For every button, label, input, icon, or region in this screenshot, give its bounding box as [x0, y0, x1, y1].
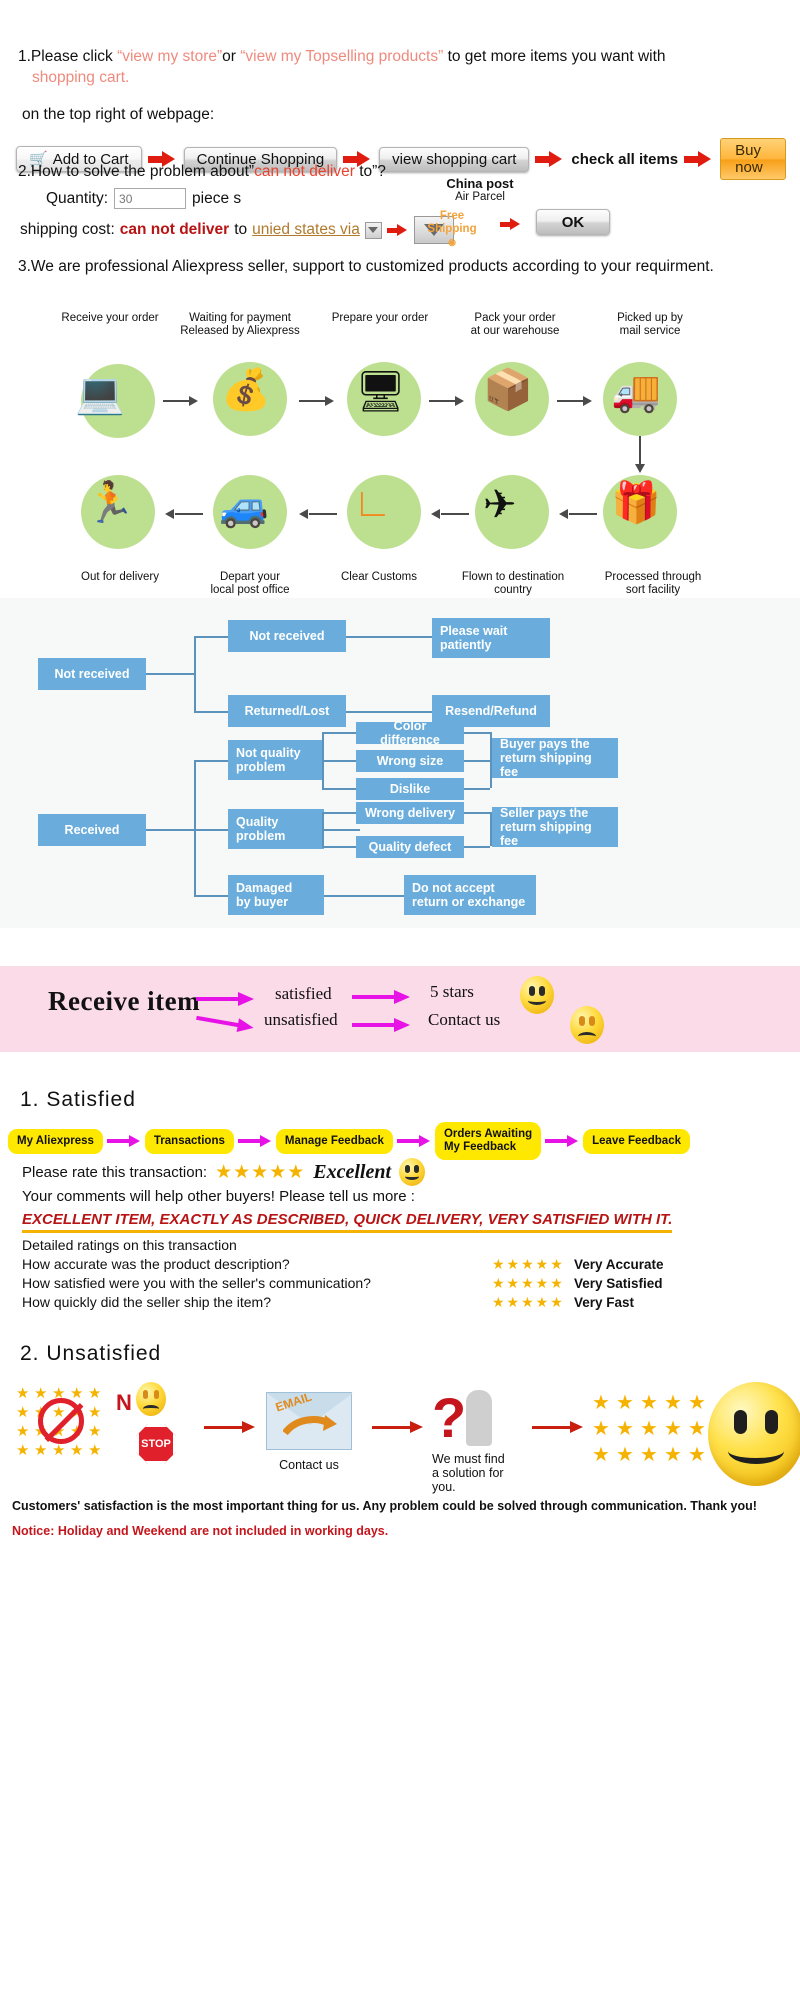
smiley-happy-icon	[399, 1158, 425, 1186]
caption-depart-local-post: Depart yourlocal post office	[185, 571, 315, 597]
free-shipping-badge: Free Shipping ◉	[424, 210, 480, 249]
flow-wrong-delivery: Wrong delivery	[356, 802, 464, 824]
arrow-right-icon	[299, 396, 337, 406]
buy-now-button[interactable]: Buy now	[720, 138, 786, 180]
quantity-input[interactable]: 30	[114, 188, 186, 209]
caption-flown-to-destination: Flown to destinationcountry	[443, 571, 583, 597]
footer-notes: Customers' satisfaction is the most impo…	[12, 1498, 788, 1538]
arrow-right-icon	[684, 151, 714, 167]
unsatisfied-heading: 2. Unsatisfied	[20, 1342, 161, 1366]
shipping-to-text: to	[234, 221, 247, 239]
arrow-right-icon	[387, 224, 409, 236]
flow-returned-lost: Returned/Lost	[228, 695, 346, 727]
five-stars-label: 5 stars	[430, 982, 474, 1002]
parcel-sorting-icon: 🎁	[611, 483, 661, 523]
caption-prepare-your-order: Prepare your order	[315, 312, 445, 338]
china-post-name: China post	[420, 176, 540, 191]
step-manage-feedback[interactable]: Manage Feedback	[276, 1129, 393, 1154]
rating-stars: ★★★★★	[492, 1274, 574, 1293]
email-group: EMAIL Contact us	[266, 1392, 352, 1472]
flow-no-return-exchange: Do not accept return or exchange	[404, 875, 536, 915]
table-row: How satisfied were you with the seller's…	[22, 1274, 782, 1293]
unsatisfied-label: unsatisfied	[264, 1010, 338, 1030]
process-row-top: Receive your order Waiting for paymentRe…	[55, 312, 755, 454]
stop-sign-icon: STOP	[136, 1424, 176, 1464]
rating-question: How satisfied were you with the seller's…	[22, 1274, 492, 1293]
arrow-left-icon	[299, 509, 337, 519]
s1-text-post: to get more items you want with	[443, 48, 665, 65]
money-bag-icon: 💰	[221, 370, 271, 410]
s1-text-mid: or	[222, 48, 240, 65]
email-label: EMAIL	[274, 1390, 314, 1415]
arrow-left-icon	[165, 509, 203, 519]
step-my-aliexpress[interactable]: My Aliexpress	[8, 1129, 103, 1154]
flow-dislike: Dislike	[356, 778, 464, 800]
flow-color-difference: Color difference	[356, 722, 464, 744]
rating-stars: ★★★★★	[492, 1293, 574, 1312]
rejected-stars-group: ★★★★★ ★★★★★ ★★★★★ ★★★★★	[16, 1384, 105, 1459]
step-transactions[interactable]: Transactions	[145, 1129, 234, 1154]
s1-text-pre: 1.Please click	[18, 48, 117, 65]
check-all-items-text: check all items	[571, 151, 678, 168]
process-row-top-captions: Receive your order Waiting for paymentRe…	[55, 312, 755, 338]
arrow-right-icon	[429, 396, 467, 406]
process-row-bottom-captions: Out for delivery Depart yourlocal post o…	[55, 571, 755, 597]
detail-heading-text: Detailed ratings on this transaction	[22, 1236, 492, 1255]
rating-block: Please rate this transaction: ★★★★★ Exce…	[22, 1158, 782, 1233]
van-icon: 🚙	[219, 487, 269, 527]
step-orders-awaiting-feedback[interactable]: Orders Awaiting My Feedback	[435, 1122, 541, 1160]
envelope-icon: EMAIL	[266, 1392, 352, 1450]
prohibited-icon	[38, 1398, 84, 1444]
flow-wrong-size: Wrong size	[356, 750, 464, 772]
receive-item-banner: Receive item satisfied unsatisfied 5 sta…	[0, 966, 800, 1052]
view-my-store-link[interactable]: “view my store”	[117, 48, 222, 65]
caption-clear-customs: Clear Customs	[315, 571, 443, 597]
contact-us-label: Contact us	[428, 1010, 500, 1030]
section2-question: 2.How to solve the problem about”can not…	[18, 163, 386, 181]
customs-icon: ∟	[353, 483, 392, 523]
process-row-bottom: 🏃 🚙 ∟ ✈ 🎁 Out for delivery Depart yourlo…	[55, 455, 755, 597]
arrow-right-icon	[500, 218, 522, 230]
footer-notice-text: Notice: Holiday and Weekend are not incl…	[12, 1524, 788, 1538]
rating-value: Very Fast	[574, 1293, 634, 1312]
shipping-cost-label: shipping cost:	[20, 221, 115, 239]
worker-box-icon: 📦	[483, 370, 533, 410]
table-row: How quickly did the seller ship the item…	[22, 1293, 782, 1312]
arrow-right-icon	[107, 1135, 141, 1147]
arrow-right-icon	[372, 1420, 424, 1434]
view-cart-label: view shopping cart	[392, 151, 516, 168]
rating-stars[interactable]: ★★★★★	[215, 1161, 305, 1184]
detailed-ratings-table: Detailed ratings on this transaction How…	[22, 1236, 782, 1312]
rating-value: Very Accurate	[574, 1255, 664, 1274]
shopping-cart-text: shopping cart.	[32, 69, 129, 86]
arrow-right-icon	[238, 1135, 272, 1147]
ok-label: OK	[562, 214, 585, 231]
computer-icon: 🖥	[355, 372, 406, 412]
ok-button[interactable]: OK	[536, 209, 610, 235]
arrow-right-icon	[535, 151, 565, 167]
solution-caption: We must find a solution for you.	[432, 1452, 505, 1494]
no-letter-text: N	[116, 1390, 132, 1416]
shipping-label: Shipping	[424, 223, 480, 236]
s2-q-post: to”?	[355, 163, 386, 180]
arrow-right-icon	[545, 1135, 579, 1147]
view-topselling-link[interactable]: “view my Topselling products”	[240, 48, 443, 65]
arrow-right-icon	[557, 396, 595, 406]
flow-seller-pays-fee: Seller pays the return shipping fee	[492, 807, 618, 847]
free-label: Free	[424, 210, 480, 223]
rate-transaction-label: Please rate this transaction:	[22, 1164, 207, 1181]
arrow-right-icon	[204, 1420, 256, 1434]
step-leave-feedback[interactable]: Leave Feedback	[583, 1129, 690, 1154]
view-shopping-cart-button[interactable]: view shopping cart	[379, 147, 529, 172]
flow-damaged-by-buyer: Damaged by buyer	[228, 875, 324, 915]
arrow-right-icon	[352, 1018, 412, 1032]
country-select-link[interactable]: unied states via	[252, 221, 360, 239]
caption-processed-sort-facility: Processed throughsort facility	[583, 571, 723, 597]
question-mark-icon: ?	[432, 1390, 466, 1446]
flow-not-received-root: Not received	[38, 658, 146, 690]
review-text: EXCELLENT ITEM, EXACTLY AS DESCRIBED, QU…	[22, 1211, 672, 1233]
caption-picked-up-by-mail: Picked up bymail service	[585, 312, 715, 338]
flow-quality-defect: Quality defect	[356, 836, 464, 858]
curved-arrow-icon	[283, 1415, 337, 1437]
flow-buyer-pays-fee: Buyer pays the return shipping fee	[492, 738, 618, 778]
stop-label: STOP	[141, 1438, 171, 1450]
arrow-left-icon	[431, 509, 469, 519]
piece-label: piece s	[192, 190, 241, 208]
caption-receive-your-order: Receive your order	[55, 312, 165, 338]
feedback-steps-row: My Aliexpress Transactions Manage Feedba…	[8, 1122, 792, 1160]
person-at-computer-icon: 💻	[75, 374, 125, 414]
returns-policy-flowchart: Not received Not received Returned/Lost …	[0, 598, 800, 928]
footer-main-text: Customers' satisfaction is the most impo…	[12, 1498, 788, 1514]
caption-out-for-delivery: Out for delivery	[55, 571, 185, 597]
receive-item-title: Receive item	[48, 986, 200, 1017]
truck-icon: 🚚	[611, 372, 661, 412]
s2-q-pre: 2.How to solve the problem about”	[18, 163, 254, 180]
arrow-right-icon	[195, 1011, 257, 1035]
smiley-happy-icon	[520, 976, 554, 1014]
shipping-cost-row: shipping cost:can not deliver to unied s…	[20, 216, 454, 244]
airplane-icon: ✈	[483, 485, 517, 525]
shipping-method-label: China post Air Parcel	[420, 176, 540, 203]
arrow-right-icon	[352, 990, 412, 1004]
comments-prompt: Your comments will help other buyers! Pl…	[22, 1188, 782, 1205]
section1-subnote: on the top right of webpage:	[22, 104, 214, 125]
section1-instruction: 1.Please click “view my store”or “view m…	[18, 46, 778, 88]
rating-question: How accurate was the product description…	[22, 1255, 492, 1274]
s2-q-red: can not deliver	[254, 163, 355, 180]
buy-now-label: Buy now	[735, 142, 771, 176]
person-icon	[466, 1390, 492, 1446]
rating-stars: ★★★★★	[492, 1255, 574, 1274]
rating-value: Very Satisfied	[574, 1274, 663, 1293]
star-grid-icon: ★★★★★ ★★★★★ ★★★★★	[592, 1390, 711, 1467]
caption-waiting-for-payment: Waiting for paymentReleased by Aliexpres…	[165, 312, 315, 338]
flow-please-wait: Please wait patiently	[432, 618, 550, 658]
rating-word: Excellent	[313, 1161, 391, 1184]
quantity-row: Quantity: 30 piece s	[46, 188, 241, 209]
satisfied-heading: 1. Satisfied	[20, 1088, 136, 1112]
contact-us-caption: Contact us	[266, 1458, 352, 1472]
courier-running-icon: 🏃	[85, 483, 135, 523]
five-star-grid-group: ★★★★★ ★★★★★ ★★★★★	[592, 1390, 711, 1467]
cannot-deliver-text: can not deliver	[120, 221, 229, 239]
detailed-ratings-heading: Detailed ratings on this transaction	[22, 1236, 782, 1255]
satisfied-label: satisfied	[275, 984, 332, 1004]
unsatisfied-flow-row: ★★★★★ ★★★★★ ★★★★★ ★★★★★ N STOP EMAIL Con…	[8, 1378, 792, 1488]
chevron-down-icon	[368, 227, 378, 233]
process-row-top-icons: 💻 💰 🖥 📦 🚚	[55, 344, 755, 454]
smiley-happy-icon	[708, 1382, 800, 1486]
quantity-label: Quantity:	[46, 190, 108, 208]
country-dropdown-toggle[interactable]	[365, 222, 382, 239]
caption-pack-your-order: Pack your orderat our warehouse	[445, 312, 585, 338]
rate-transaction-row: Please rate this transaction: ★★★★★ Exce…	[22, 1158, 782, 1186]
flow-quality-problem: Quality problem	[228, 809, 324, 849]
solution-group: ? We must find a solution for you.	[432, 1380, 505, 1494]
rating-question: How quickly did the seller ship the item…	[22, 1293, 492, 1312]
arrow-left-icon	[559, 509, 597, 519]
table-row: How accurate was the product description…	[22, 1255, 782, 1274]
arrow-right-icon	[532, 1420, 584, 1434]
section3-title: 3.We are professional Aliexpress seller,…	[18, 258, 714, 276]
flow-not-quality-problem: Not quality problem	[228, 740, 324, 780]
smiley-crying-icon	[136, 1382, 166, 1416]
arrow-right-icon	[163, 396, 201, 406]
arrow-right-icon	[397, 1135, 431, 1147]
flow-received-root: Received	[38, 814, 146, 846]
flow-not-received-child: Not received	[228, 620, 346, 652]
arrow-right-icon	[196, 992, 256, 1006]
smiley-sad-icon	[570, 1006, 604, 1044]
radio-icon[interactable]: ◉	[424, 236, 480, 249]
process-row-bottom-icons: 🏃 🚙 ∟ ✈ 🎁	[55, 461, 755, 571]
air-parcel-name: Air Parcel	[420, 191, 540, 203]
